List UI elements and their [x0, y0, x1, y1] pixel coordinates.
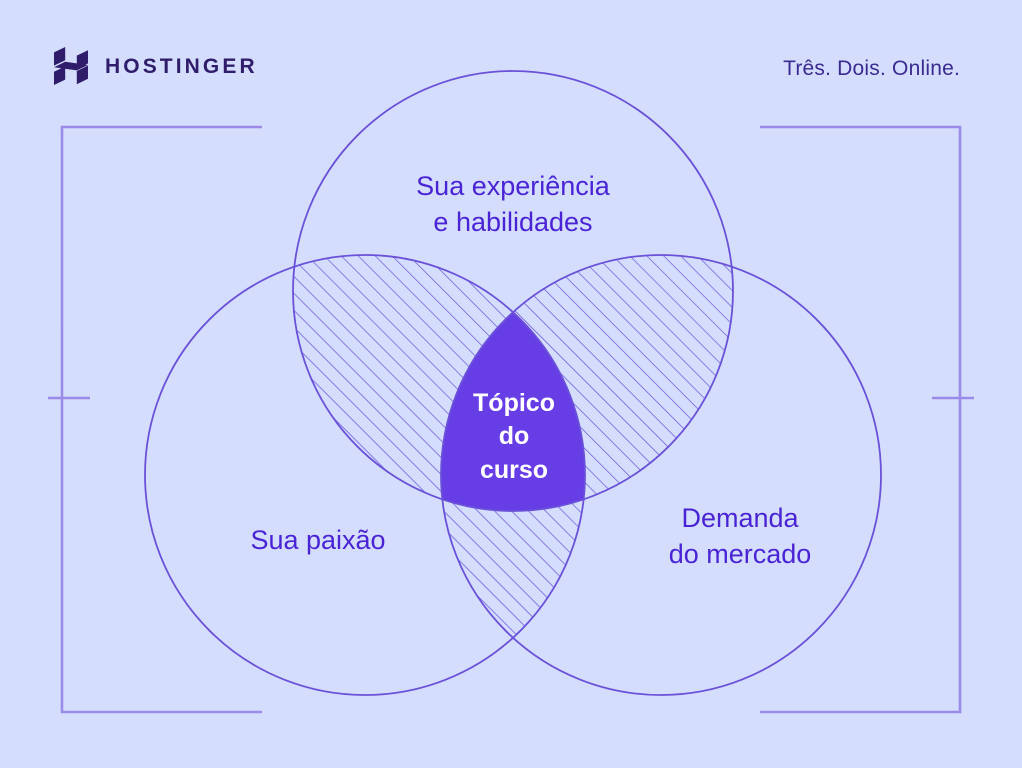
- venn-diagram: Sua experiência e habilidades Sua paixão…: [0, 0, 1022, 768]
- bracket-bottom-left: [62, 443, 262, 712]
- infographic-canvas: HOSTINGER Três. Dois. Online.: [0, 0, 1022, 768]
- bracket-top-right: [760, 127, 960, 325]
- venn-svg: [0, 0, 1022, 768]
- bracket-bottom-right: [760, 443, 960, 712]
- bracket-top-left: [62, 127, 262, 325]
